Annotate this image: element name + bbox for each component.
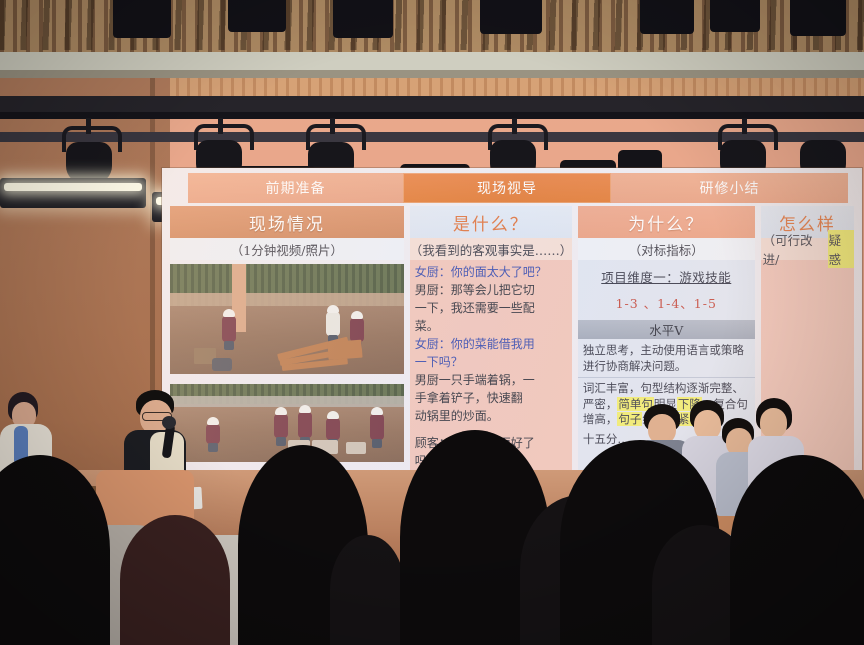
dialogue-line: 男厨：那等会儿把它切 bbox=[415, 282, 567, 299]
dialogue-line: 男厨一只手端着锅，一 bbox=[415, 372, 567, 389]
head bbox=[760, 408, 787, 438]
indicator-paragraph-1: 独立思考，主动使用语言或策略进行协商解决问题。 bbox=[578, 339, 755, 374]
dialogue-line: 女厨：你的面太大了吧？ bbox=[415, 264, 567, 281]
audience-head bbox=[330, 535, 405, 645]
project-dimension-label: 项目维度一：游戏技能 bbox=[578, 260, 755, 288]
dialogue-line: 女厨：你的菜能借我用 bbox=[415, 336, 567, 353]
ceiling-spotlight-icon bbox=[790, 0, 846, 36]
brick-block bbox=[346, 442, 366, 454]
child-figure bbox=[350, 318, 364, 342]
column-3-header: 为什么？ bbox=[578, 206, 755, 238]
child-figure bbox=[222, 316, 236, 342]
column-3-subheader: （对标指标） bbox=[578, 238, 755, 260]
chef-hat bbox=[299, 405, 311, 413]
column-4-subheader-highlight: 疑惑 bbox=[828, 230, 854, 268]
basin bbox=[212, 358, 232, 371]
child-figure bbox=[326, 418, 340, 440]
stage-bar-light bbox=[0, 178, 146, 208]
tab-onsite-guidance[interactable]: 现场视导 bbox=[403, 173, 611, 203]
slide-tab-bar: 前期准备 现场视导 研修小结 bbox=[188, 173, 848, 203]
column-2-subheader: （我看到的客观事实是……） bbox=[410, 238, 572, 260]
dialogue-line: 动锅里的炒面。 bbox=[415, 408, 567, 425]
column-2-header: 是什么？ bbox=[410, 206, 572, 238]
dialogue-line: 手拿着铲子，快速翻 bbox=[415, 390, 567, 407]
microphone-head bbox=[162, 416, 176, 429]
level-bar: 水平Ⅴ bbox=[578, 320, 755, 339]
audience-head bbox=[120, 515, 230, 645]
tab-preparation[interactable]: 前期准备 bbox=[188, 173, 403, 203]
child-legs bbox=[372, 439, 382, 448]
ceiling-spotlight-icon bbox=[228, 0, 286, 32]
outdoor-play-photo-1 bbox=[170, 264, 404, 374]
ceiling-spotlight-icon bbox=[710, 0, 760, 32]
chef-hat bbox=[223, 309, 235, 317]
ceiling-spotlight-icon bbox=[113, 0, 171, 38]
chef-hat bbox=[275, 407, 287, 415]
tab-summary[interactable]: 研修小结 bbox=[611, 173, 848, 203]
child-figure bbox=[206, 424, 220, 444]
wooden-bench bbox=[327, 340, 362, 360]
indicator-codes: 1-3 、1-4、1-5 bbox=[578, 288, 755, 320]
column-1-subheader: （1分钟视频/照片） bbox=[170, 238, 404, 260]
child-figure bbox=[370, 414, 384, 440]
dialogue-line: 一下，我还需要一些配 bbox=[415, 300, 567, 317]
column-4-subheader: （可行改进/疑惑 bbox=[761, 238, 854, 260]
lighting-truss bbox=[0, 96, 864, 112]
child-legs bbox=[208, 443, 218, 452]
dialogue-line: 菜。 bbox=[415, 318, 567, 335]
child-figure bbox=[298, 412, 312, 438]
child-figure bbox=[274, 414, 288, 438]
chef-hat bbox=[351, 311, 363, 319]
chef-hat bbox=[327, 411, 339, 419]
lighting-truss-lower bbox=[0, 112, 864, 119]
child-figure bbox=[326, 312, 340, 336]
chef-hat bbox=[327, 305, 339, 313]
ceiling-spotlight-icon bbox=[640, 0, 694, 34]
child-legs bbox=[224, 341, 234, 350]
dialogue-line: 一下吗？ bbox=[415, 354, 567, 371]
chef-hat bbox=[371, 407, 383, 415]
seminar-hall-photo: 前期准备 现场视导 研修小结 现场情况 （1分钟视频/照片） bbox=[0, 0, 864, 645]
child-legs bbox=[276, 437, 286, 446]
chef-hat bbox=[207, 417, 219, 425]
ceiling-spotlight-icon bbox=[480, 0, 542, 34]
column-4-subheader-plain: （可行改进/ bbox=[763, 230, 828, 268]
ceiling-spotlight-icon bbox=[333, 0, 393, 38]
column-1-header: 现场情况 bbox=[170, 206, 404, 238]
